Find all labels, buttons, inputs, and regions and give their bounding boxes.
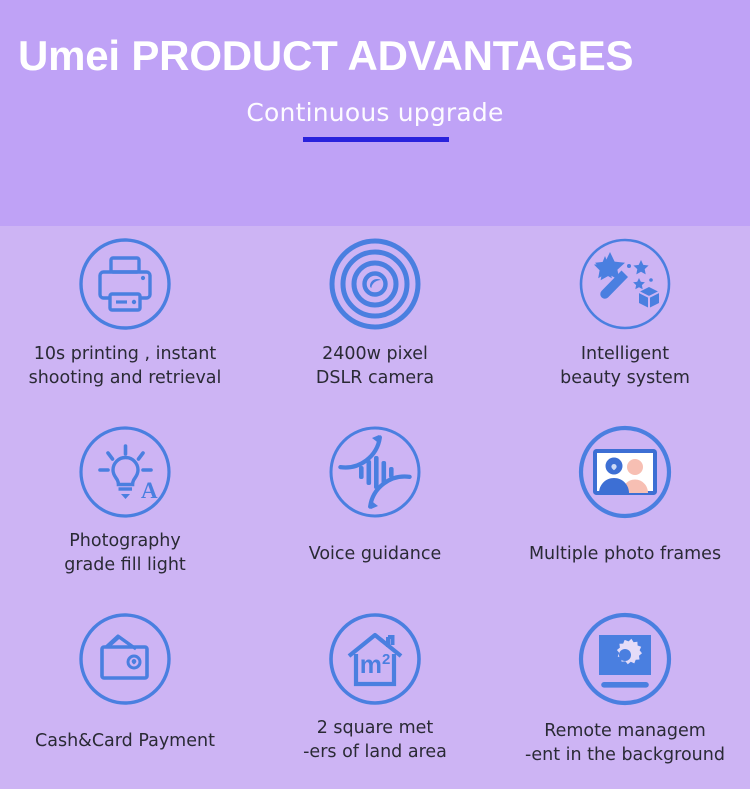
page-subtitle: Continuous upgrade: [246, 98, 503, 127]
feature-label: Photography grade fill light: [0, 529, 250, 577]
feature-item-photo-frames: Multiple photo frames: [500, 414, 750, 602]
feature-grid: 10s printing , instant shooting and retr…: [0, 226, 750, 789]
feature-item-fill-light: A Photography grade fill light: [0, 414, 250, 602]
voice-waveform-icon: [327, 424, 423, 520]
feature-label: 10s printing , instant shooting and retr…: [0, 342, 250, 390]
feature-item-payment: Cash&Card Payment: [0, 601, 250, 789]
feature-label: Multiple photo frames: [500, 542, 750, 566]
monitor-gear-icon: [577, 611, 673, 707]
feature-item-printer: 10s printing , instant shooting and retr…: [0, 226, 250, 414]
feature-label: 2 square met -ers of land area: [250, 716, 500, 764]
feature-label: Cash&Card Payment: [0, 729, 250, 753]
product-advantages-poster: Umei PRODUCT ADVANTAGES Continuous upgra…: [0, 0, 750, 789]
feature-label: Voice guidance: [250, 542, 500, 566]
house-area-icon: m2: [327, 611, 423, 707]
light-bulb-auto-icon: A: [77, 424, 173, 520]
feature-label: Remote managem -ent in the background: [500, 719, 750, 767]
feature-item-land-area: m2 2 square met -ers of land area: [250, 601, 500, 789]
svg-text:m2: m2: [360, 651, 391, 679]
subtitle-container: Continuous upgrade: [0, 98, 750, 127]
camera-lens-icon: [327, 236, 423, 332]
subtitle-underline: [303, 137, 449, 142]
svg-text:A: A: [141, 478, 158, 503]
feature-item-beauty: Intelligent beauty system: [500, 226, 750, 414]
printer-icon: [77, 236, 173, 332]
photo-frame-icon: [577, 424, 673, 520]
feature-label: 2400w pixel DSLR camera: [250, 342, 500, 390]
feature-item-remote-management: Remote managem -ent in the background: [500, 601, 750, 789]
feature-item-camera: 2400w pixel DSLR camera: [250, 226, 500, 414]
feature-label: Intelligent beauty system: [500, 342, 750, 390]
page-title: Umei PRODUCT ADVANTAGES: [18, 32, 633, 80]
poster-header: Umei PRODUCT ADVANTAGES Continuous upgra…: [0, 0, 750, 226]
feature-item-voice: Voice guidance: [250, 414, 500, 602]
magic-wand-icon: [577, 236, 673, 332]
wallet-icon: [77, 611, 173, 707]
